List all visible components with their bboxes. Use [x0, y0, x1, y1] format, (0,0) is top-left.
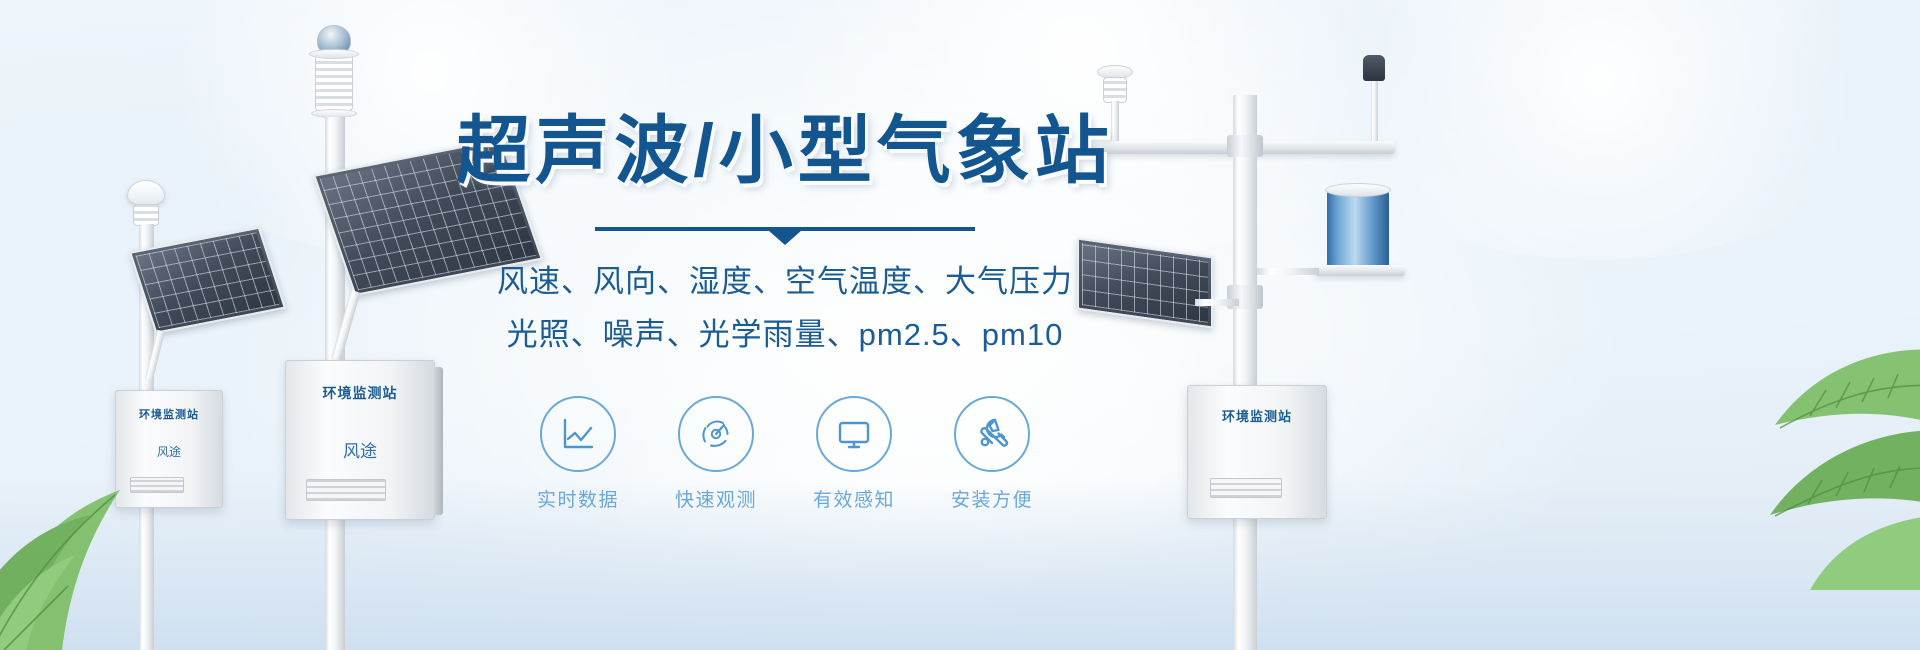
feature-item-easy-installation[interactable]: 安装方便: [942, 396, 1042, 512]
right-foreground-leaf: [1640, 290, 1920, 590]
shelf-support: [1257, 268, 1319, 275]
feature-icon-ring: [678, 396, 754, 472]
feature-item-effective-sensing[interactable]: 有效感知: [804, 396, 904, 512]
subtitle-list: 风速、风向、湿度、空气温度、大气压力 光照、噪声、光学雨量、pm2.5、pm10: [455, 255, 1115, 362]
cabinet-vent: [1210, 478, 1282, 498]
subtitle-line-2: 光照、噪声、光学雨量、pm2.5、pm10: [455, 308, 1115, 361]
left-foreground-leaf: [0, 330, 180, 650]
feature-icon-ring: [540, 396, 616, 472]
divider-triangle-icon: [768, 230, 802, 245]
subtitle-line-1: 风速、风向、湿度、空气温度、大气压力: [455, 255, 1115, 308]
cabinet-vent: [306, 479, 386, 501]
cabinet-label: 环境监测站: [1188, 406, 1326, 425]
shield-cap: [309, 49, 359, 59]
feature-label: 快速观测: [666, 485, 766, 512]
anemometer-body: [1103, 77, 1127, 103]
monitor-screen-icon: [834, 414, 874, 454]
wrench-tool-icon: [971, 413, 1013, 455]
feature-icon-ring: [816, 396, 892, 472]
right-control-cabinet: 环境监测站: [1187, 385, 1327, 519]
solar-cells: [135, 232, 279, 328]
feature-label: 安装方便: [942, 485, 1042, 512]
feature-label: 有效感知: [804, 485, 904, 512]
rain-gauge: [1327, 190, 1389, 268]
mast-pole: [1233, 95, 1257, 650]
feature-item-realtime-data[interactable]: 实时数据: [528, 396, 628, 512]
rain-gauge-rim: [1325, 183, 1391, 197]
rain-sensor-stem: [1371, 81, 1378, 145]
cabinet-brand-logo: 风途: [286, 437, 434, 462]
radar-observation-icon: [696, 414, 736, 454]
product-banner: 环境监测站 风途 环境监测站 风途: [0, 0, 1920, 650]
optical-rain-sensor-icon: [1363, 55, 1385, 81]
right-weather-station: 环境监测站: [1075, 55, 1405, 650]
feature-list: 实时数据 快速观测: [455, 396, 1115, 512]
middle-control-cabinet: 环境监测站 风途: [285, 360, 435, 520]
feature-label: 实时数据: [528, 485, 628, 512]
feature-item-fast-observation[interactable]: 快速观测: [666, 396, 766, 512]
panel-bracket: [1195, 299, 1239, 306]
cabinet-label: 环境监测站: [286, 383, 434, 403]
cabinet-side-panel: [434, 367, 443, 515]
radiation-shield-icon: [315, 53, 353, 111]
radiation-shield-icon: [127, 180, 165, 206]
right-shelf: [1315, 265, 1405, 276]
feature-icon-ring: [954, 396, 1030, 472]
pole-collar: [1227, 135, 1263, 157]
sensor-stack: [133, 204, 159, 226]
page-title: 超声波/小型气象站: [455, 110, 1115, 193]
title-divider: [595, 227, 975, 231]
banner-text-block: 超声波/小型气象站 风速、风向、湿度、空气温度、大气压力 光照、噪声、光学雨量、…: [455, 110, 1115, 512]
line-chart-icon: [558, 414, 598, 454]
